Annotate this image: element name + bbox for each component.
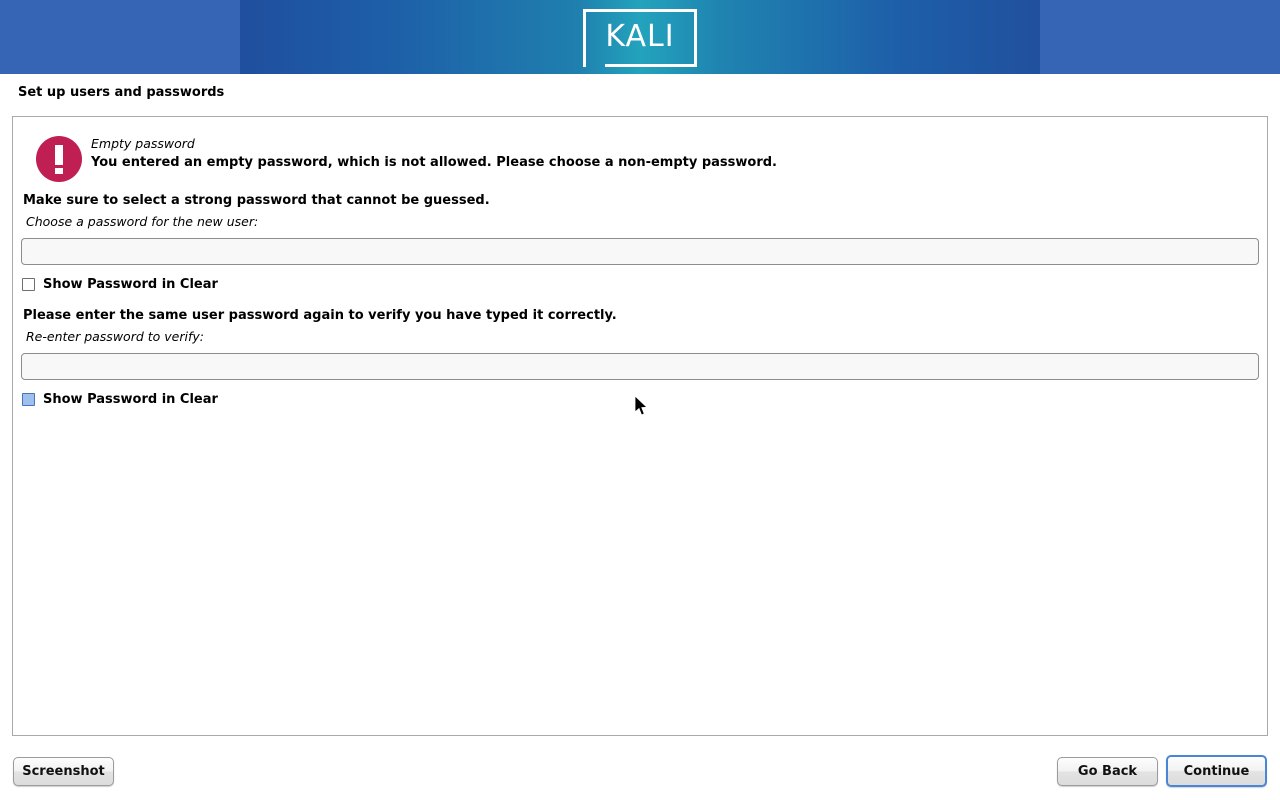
installer-banner: KALI bbox=[0, 0, 1280, 74]
show-password-label-1: Show Password in Clear bbox=[43, 277, 218, 292]
show-password-checkbox-2[interactable]: Show Password in Clear bbox=[22, 392, 218, 407]
error-heading: Empty password bbox=[91, 136, 195, 151]
exclamation-stem bbox=[55, 145, 63, 165]
password-field-label: Choose a password for the new user: bbox=[26, 214, 258, 229]
show-password-label-2: Show Password in Clear bbox=[43, 392, 218, 407]
kali-logo-icon: KALI bbox=[583, 9, 697, 67]
go-back-button[interactable]: Go Back bbox=[1057, 757, 1158, 786]
kali-wordmark: KALI bbox=[583, 9, 697, 67]
screenshot-button[interactable]: Screenshot bbox=[13, 757, 114, 786]
password-input[interactable] bbox=[21, 238, 1259, 265]
page-title: Set up users and passwords bbox=[18, 85, 224, 100]
verify-field-label: Re-enter password to verify: bbox=[26, 329, 204, 344]
checkbox-box[interactable] bbox=[22, 278, 35, 291]
show-password-checkbox-1[interactable]: Show Password in Clear bbox=[22, 277, 218, 292]
exclamation-dot bbox=[55, 168, 63, 174]
verify-password-input[interactable] bbox=[21, 353, 1259, 380]
error-exclamation-icon bbox=[36, 136, 82, 182]
password-section-heading: Make sure to select a strong password th… bbox=[23, 193, 490, 208]
continue-button[interactable]: Continue bbox=[1166, 755, 1267, 787]
checkbox-box[interactable] bbox=[22, 393, 35, 406]
error-message: You entered an empty password, which is … bbox=[91, 155, 777, 170]
installer-content-panel: Empty password You entered an empty pass… bbox=[12, 116, 1268, 736]
verify-section-heading: Please enter the same user password agai… bbox=[23, 308, 617, 323]
error-banner: Empty password You entered an empty pass… bbox=[23, 126, 1253, 186]
